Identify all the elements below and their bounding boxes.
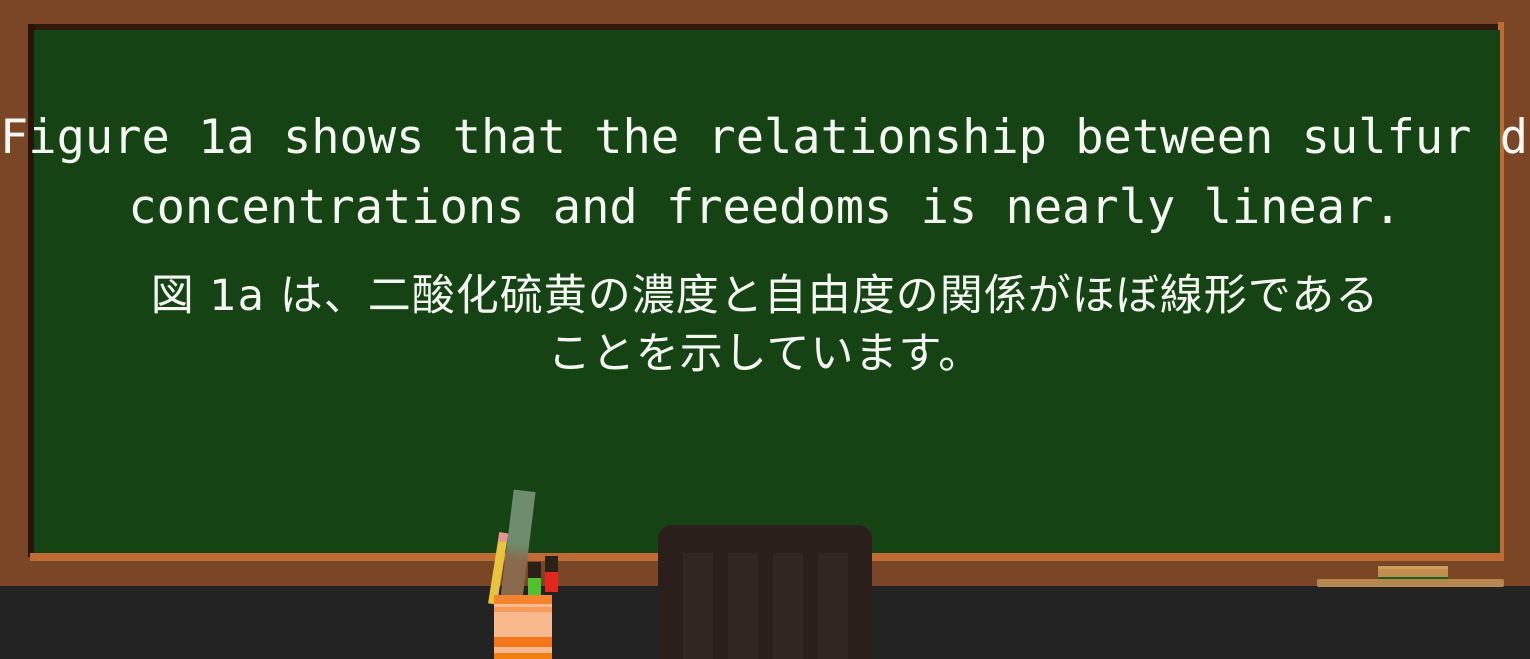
marker-barrel	[545, 572, 558, 592]
chair	[658, 525, 872, 659]
pencil-cup	[494, 595, 552, 659]
chair-slat	[818, 553, 848, 659]
chair-slat	[683, 553, 713, 659]
cup-band	[494, 637, 552, 647]
red-marker	[545, 556, 558, 592]
blackboard-surface	[34, 30, 1500, 554]
marker-cap	[528, 562, 541, 578]
cup-band	[494, 653, 552, 659]
pencil-eraser	[498, 532, 508, 542]
desk-surface	[1317, 579, 1504, 587]
chalkboard-scene: Figure 1a shows that the relationship be…	[0, 0, 1530, 659]
chair-slat	[728, 553, 758, 659]
desk-book	[1378, 566, 1448, 580]
blackboard-frame	[0, 0, 1530, 586]
green-marker	[528, 562, 541, 598]
cup-band	[494, 607, 552, 612]
cup-rim	[494, 595, 552, 604]
pencil-cup-assembly	[470, 490, 590, 659]
chair-slat	[773, 553, 803, 659]
marker-cap	[545, 556, 558, 572]
